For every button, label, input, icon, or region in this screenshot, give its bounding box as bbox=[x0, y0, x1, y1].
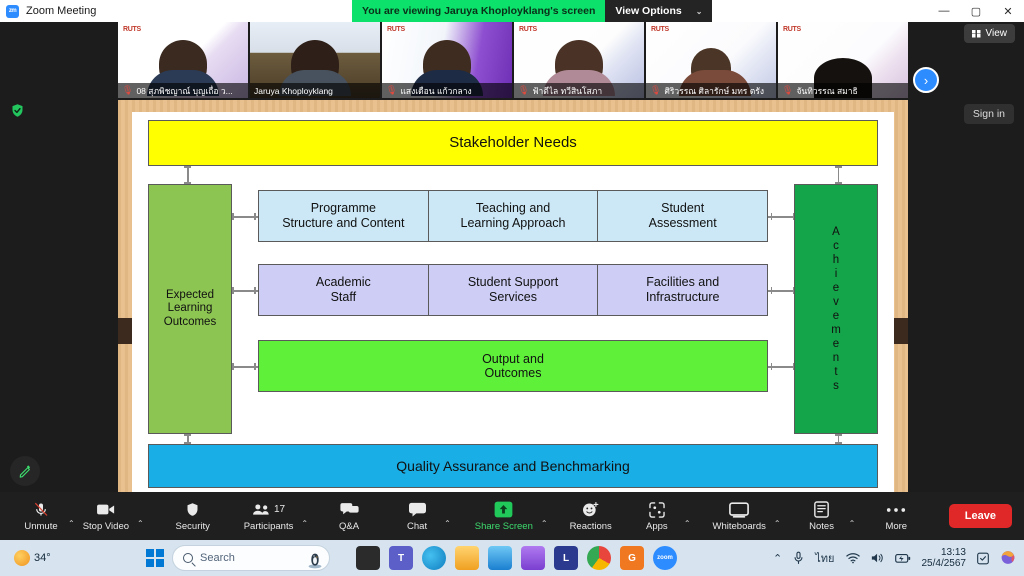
viewing-banner: You are viewing Jaruya Khoployklang's sc… bbox=[352, 0, 605, 22]
expected-learning-outcomes-label: Expected Learning Outcomes bbox=[164, 289, 216, 329]
window-controls: — ▢ ✕ bbox=[928, 0, 1024, 22]
file-explorer-dark-icon[interactable] bbox=[356, 546, 380, 570]
connector-cap bbox=[254, 213, 256, 220]
facilities-and-infrastructure-box: Facilities and Infrastructure bbox=[597, 264, 768, 316]
connector-cap bbox=[184, 434, 191, 436]
participants-button[interactable]: 17 Participants bbox=[240, 501, 298, 532]
mic-muted-icon: 🎙 bbox=[518, 85, 529, 96]
view-options-button[interactable]: View Options ⌄ bbox=[605, 0, 712, 22]
connector-cap bbox=[254, 363, 256, 370]
mic-muted-icon: 🎙 bbox=[782, 85, 793, 96]
connector-cap bbox=[835, 434, 842, 436]
tray-chevron-up-icon[interactable]: ⌃ bbox=[773, 552, 782, 565]
connector-cap bbox=[254, 287, 256, 294]
apps-button[interactable]: Apps bbox=[634, 501, 680, 532]
microphone-muted-icon bbox=[33, 501, 49, 519]
expected-learning-outcomes-box: Expected Learning Outcomes bbox=[148, 184, 232, 434]
zoom-meeting-window: zm Zoom Meeting You are viewing Jaruya K… bbox=[0, 0, 1024, 576]
participant-name: Jaruya Khoployklang bbox=[254, 86, 333, 96]
next-page-arrow-icon[interactable]: › bbox=[913, 67, 939, 93]
participant-name: แสงเดือน แก้วกลาง bbox=[400, 84, 471, 98]
line-icon[interactable]: L bbox=[554, 546, 578, 570]
qa-label: Q&A bbox=[339, 521, 359, 532]
copilot-icon[interactable] bbox=[1000, 550, 1016, 566]
participant-name: ฟ้าตีไล ทวีสินโสภา bbox=[532, 84, 602, 98]
taskbar-clock[interactable]: 13:13 25/4/2567 bbox=[922, 547, 967, 570]
share-screen-label: Share Screen bbox=[475, 521, 533, 532]
participant-thumbnail[interactable]: RUTS 🎙 แสงเดือน แก้วกลาง bbox=[382, 22, 512, 98]
participant-thumbnail[interactable]: RUTS 🎙 ศิริวรรณ ศิลารักษ์ มทร ตรัง bbox=[646, 22, 776, 98]
quality-assurance-and-benchmarking-box: Quality Assurance and Benchmarking bbox=[148, 444, 878, 488]
mic-icon[interactable] bbox=[793, 551, 804, 565]
windows-start-icon[interactable] bbox=[146, 549, 164, 567]
ruts-logo-icon: RUTS bbox=[519, 26, 537, 33]
qa-button[interactable]: Q&A bbox=[326, 501, 372, 532]
mic-muted-icon: 🎙 bbox=[386, 85, 397, 96]
academic-staff-box: Academic Staff bbox=[258, 264, 429, 316]
battery-icon[interactable] bbox=[895, 553, 911, 564]
window-titlebar: zm Zoom Meeting You are viewing Jaruya K… bbox=[0, 0, 1024, 22]
participant-name: 08 สุภพิชญาณ์ บุญเถื่อ ว... bbox=[136, 84, 232, 98]
frame-notch-left bbox=[118, 318, 132, 344]
minimize-button[interactable]: — bbox=[928, 0, 960, 22]
person-silhouette bbox=[555, 40, 603, 88]
notification-icon[interactable] bbox=[977, 552, 989, 565]
system-tray: ⌃ ไทย 13:13 25/4/2567 bbox=[773, 547, 1016, 570]
apps-caret-icon[interactable]: ⌃ bbox=[680, 519, 695, 528]
unmute-button[interactable]: Unmute bbox=[18, 501, 64, 532]
participant-name-bar: 🎙 ฟ้าตีไล ทวีสินโสภา bbox=[514, 83, 644, 98]
video-camera-icon bbox=[96, 501, 116, 519]
person-silhouette bbox=[691, 48, 731, 88]
programme-structure-and-content-box: Programme Structure and Content bbox=[258, 190, 429, 242]
participants-label: Participants bbox=[244, 521, 294, 532]
notes-icon bbox=[814, 501, 829, 519]
wifi-icon[interactable] bbox=[846, 552, 860, 564]
close-button[interactable]: ✕ bbox=[992, 0, 1024, 22]
person-silhouette bbox=[159, 40, 207, 88]
windows-taskbar: 34° Search T L bbox=[0, 540, 1024, 576]
view-layout-button[interactable]: View bbox=[964, 24, 1016, 43]
mic-muted-icon: 🎙 bbox=[650, 85, 661, 96]
stop-video-button[interactable]: Stop Video bbox=[79, 501, 133, 532]
smiley-plus-icon bbox=[582, 501, 599, 519]
participant-name-bar: 🎙 จันทิวรรณ สมาธิ bbox=[778, 83, 908, 98]
participant-name-bar: 🎙 ศิริวรรณ ศิลารักษ์ มทร ตรัง bbox=[646, 83, 776, 98]
screen-share-status-bar: You are viewing Jaruya Khoployklang's sc… bbox=[352, 0, 712, 22]
notes-button[interactable]: Notes bbox=[799, 501, 845, 532]
chat-caret-icon[interactable]: ⌃ bbox=[440, 519, 455, 528]
stop-video-label: Stop Video bbox=[83, 521, 129, 532]
search-icon bbox=[183, 553, 193, 563]
ellipsis-icon bbox=[886, 501, 906, 519]
participant-thumbnail[interactable]: RUTS 🎙 ฟ้าตีไล ทวีสินโสภา bbox=[514, 22, 644, 98]
participant-thumbnail-strip: RUTS 🎙 08 สุภพิชญาณ์ บุญเถื่อ ว... Jaruy… bbox=[118, 22, 908, 98]
share-screen-caret-icon[interactable]: ⌃ bbox=[537, 519, 552, 528]
connector-cap bbox=[232, 213, 234, 220]
search-placeholder: Search bbox=[200, 552, 235, 564]
slide-canvas: Stakeholder Needs Expected Learning Outc… bbox=[132, 112, 894, 500]
security-label: Security bbox=[176, 521, 210, 532]
student-support-services-box: Student Support Services bbox=[428, 264, 599, 316]
maximize-button[interactable]: ▢ bbox=[960, 0, 992, 22]
ruts-logo-icon: RUTS bbox=[783, 26, 801, 33]
meeting-stage: RUTS 🎙 08 สุภพิชญาณ์ บุญเถื่อ ว... Jaruy… bbox=[0, 22, 1024, 492]
reactions-label: Reactions bbox=[570, 521, 612, 532]
gotomeeting-icon[interactable]: G bbox=[620, 546, 644, 570]
mic-muted-icon: 🎙 bbox=[122, 85, 133, 96]
penguin-icon bbox=[307, 551, 323, 569]
speaker-icon[interactable] bbox=[871, 552, 884, 564]
row-staff-support-facilities: Academic Staff Student Support Services … bbox=[258, 264, 768, 316]
teaching-and-learning-approach-box: Teaching and Learning Approach bbox=[428, 190, 599, 242]
clock-time: 13:13 bbox=[922, 547, 967, 559]
connector-cap bbox=[793, 363, 795, 370]
notes-label: Notes bbox=[809, 521, 834, 532]
participant-thumbnail[interactable]: RUTS 🎙 จันทิวรรณ สมาธิ bbox=[778, 22, 908, 98]
participant-name-bar: 🎙 08 สุภพิชญาณ์ บุญเถื่อ ว... bbox=[118, 83, 248, 98]
participant-name: ศิริวรรณ ศิลารักษ์ มทร ตรัง bbox=[664, 84, 764, 98]
security-shield-icon bbox=[9, 102, 25, 118]
clock-date: 25/4/2567 bbox=[922, 558, 967, 570]
participants-count-badge: 17 bbox=[274, 504, 285, 515]
notes-caret-icon[interactable]: ⌃ bbox=[845, 519, 860, 528]
window-title: Zoom Meeting bbox=[26, 5, 96, 17]
apps-icon bbox=[649, 501, 665, 519]
diagram: Stakeholder Needs Expected Learning Outc… bbox=[132, 112, 894, 500]
connector-cap bbox=[232, 287, 234, 294]
weather-sun-icon bbox=[14, 550, 30, 566]
leave-meeting-button[interactable]: Leave bbox=[949, 504, 1012, 528]
row-programme-teaching-assessment: Programme Structure and Content Teaching… bbox=[258, 190, 768, 242]
connector-cap bbox=[771, 363, 773, 370]
connector-cap bbox=[771, 213, 773, 220]
chat-label: Chat bbox=[407, 521, 427, 532]
taskbar-search-box[interactable]: Search bbox=[172, 545, 330, 571]
participant-thumbnail-active[interactable]: Jaruya Khoployklang bbox=[250, 22, 380, 98]
annotate-pen-button[interactable] bbox=[10, 456, 40, 486]
whiteboards-label: Whiteboards bbox=[713, 521, 766, 532]
chat-button[interactable]: Chat bbox=[394, 501, 440, 532]
chat-bubbles-icon bbox=[340, 501, 359, 519]
security-button[interactable]: Security bbox=[170, 501, 216, 532]
people-icon: 17 bbox=[252, 501, 285, 519]
participant-name: จันทิวรรณ สมาธิ bbox=[796, 84, 857, 98]
taskbar-app-icons: T L G zoom bbox=[356, 546, 677, 570]
snipping-tool-icon[interactable] bbox=[521, 546, 545, 570]
whiteboard-icon bbox=[729, 501, 749, 519]
output-and-outcomes-box: Output and Outcomes bbox=[258, 340, 768, 392]
mail-icon[interactable] bbox=[488, 546, 512, 570]
student-assessment-box: Student Assessment bbox=[597, 190, 768, 242]
google-chrome-icon[interactable] bbox=[587, 546, 611, 570]
connector-cap bbox=[793, 213, 795, 220]
chevron-down-icon: ⌄ bbox=[696, 7, 703, 16]
whiteboards-button[interactable]: Whiteboards bbox=[709, 501, 770, 532]
ruts-logo-icon: RUTS bbox=[387, 26, 405, 33]
connector-cap bbox=[793, 287, 795, 294]
shield-icon bbox=[185, 501, 200, 519]
view-button-label: View bbox=[986, 28, 1008, 39]
grid-icon bbox=[972, 30, 981, 38]
participants-caret-icon[interactable]: ⌃ bbox=[297, 519, 312, 528]
file-explorer-icon[interactable] bbox=[455, 546, 479, 570]
connector-cap bbox=[184, 166, 191, 168]
participant-name-bar: 🎙 แสงเดือน แก้วกลาง bbox=[382, 83, 512, 98]
more-button[interactable]: More bbox=[873, 501, 919, 532]
achievements-box: Achievements bbox=[794, 184, 878, 434]
share-screen-button[interactable]: Share Screen bbox=[471, 501, 537, 532]
weather-widget[interactable]: 34° bbox=[14, 550, 51, 566]
audio-options-caret-icon[interactable]: ⌃ bbox=[64, 519, 79, 528]
unmute-label: Unmute bbox=[24, 521, 57, 532]
microsoft-teams-icon[interactable]: T bbox=[389, 546, 413, 570]
taskbar-center: Search bbox=[146, 545, 330, 571]
video-options-caret-icon[interactable]: ⌃ bbox=[133, 519, 148, 528]
language-indicator[interactable]: ไทย bbox=[815, 549, 834, 567]
ruts-logo-icon: RUTS bbox=[123, 26, 141, 33]
share-screen-icon bbox=[494, 501, 513, 519]
frame-notch-right bbox=[894, 318, 908, 344]
person-silhouette bbox=[423, 40, 471, 88]
reactions-button[interactable]: Reactions bbox=[566, 501, 616, 532]
participant-name-bar: Jaruya Khoployklang bbox=[250, 83, 380, 98]
weather-temperature: 34° bbox=[34, 552, 51, 564]
apps-label: Apps bbox=[646, 521, 668, 532]
connector-cap bbox=[771, 287, 773, 294]
ruts-logo-icon: RUTS bbox=[651, 26, 669, 33]
achievements-label: Achievements bbox=[831, 225, 841, 393]
view-options-label: View Options bbox=[615, 5, 681, 17]
sign-in-button[interactable]: Sign in bbox=[964, 104, 1014, 124]
stakeholder-needs-box: Stakeholder Needs bbox=[148, 120, 878, 166]
shared-screen-content: Stakeholder Needs Expected Learning Outc… bbox=[118, 100, 908, 514]
chat-bubble-icon bbox=[408, 501, 427, 519]
microsoft-edge-icon[interactable] bbox=[422, 546, 446, 570]
zoom-icon[interactable]: zoom bbox=[653, 546, 677, 570]
whiteboards-caret-icon[interactable]: ⌃ bbox=[770, 519, 785, 528]
zoom-meeting-toolbar: Unmute ⌃ Stop Video ⌃ Security 17 Partic… bbox=[0, 492, 1024, 540]
person-silhouette bbox=[291, 40, 339, 88]
connector-cap bbox=[232, 363, 234, 370]
zoom-app-icon: zm bbox=[6, 5, 19, 18]
more-label: More bbox=[885, 521, 907, 532]
participant-thumbnail[interactable]: RUTS 🎙 08 สุภพิชญาณ์ บุญเถื่อ ว... bbox=[118, 22, 248, 98]
connector-cap bbox=[835, 166, 842, 168]
